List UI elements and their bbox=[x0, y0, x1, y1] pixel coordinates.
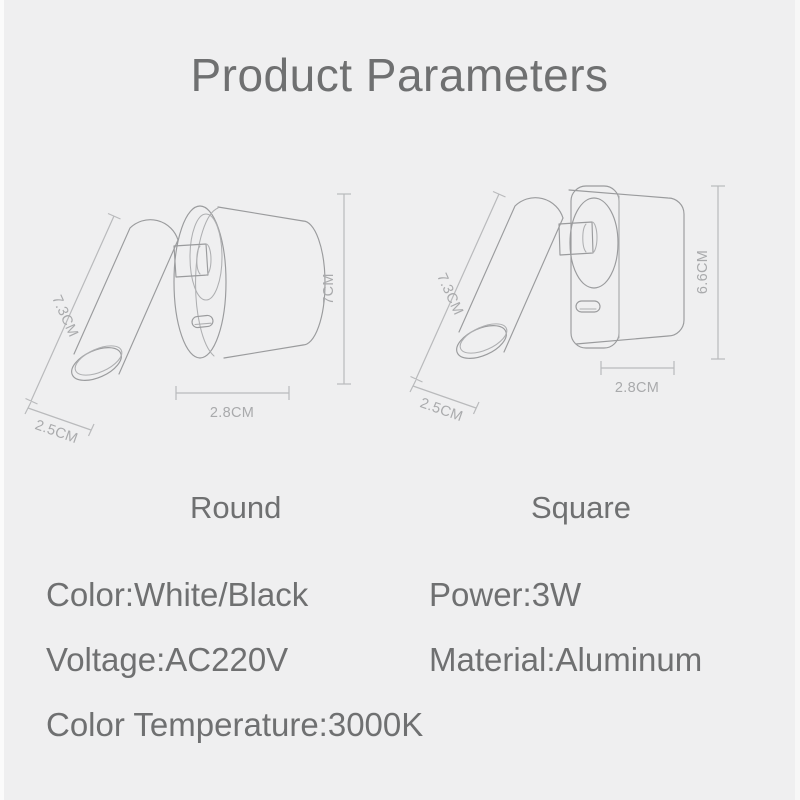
dimension-base-height: 6.6CM bbox=[695, 186, 725, 359]
spec-color: Color:White/Black bbox=[46, 578, 308, 611]
page-title: Product Parameters bbox=[4, 52, 795, 98]
dimension-base-height-label: 6.6CM bbox=[695, 250, 711, 294]
square-lamp-diagram: 7.3CM 2.5CM 6.6CM bbox=[396, 168, 776, 468]
spec-voltage: Voltage:AC220V bbox=[46, 643, 288, 676]
square-lamp-joint bbox=[559, 222, 597, 255]
round-lamp-head bbox=[67, 220, 178, 387]
square-lamp-switch bbox=[576, 301, 600, 312]
dimension-base-depth-label: 2.8CM bbox=[615, 380, 659, 396]
spec-color-temperature: Color Temperature:3000K bbox=[46, 708, 423, 741]
dimension-head-diameter-label: 2.5CM bbox=[418, 395, 465, 425]
dimension-base-depth: 2.8CM bbox=[601, 361, 674, 396]
spec-power: Power:3W bbox=[429, 578, 581, 611]
square-lamp-head bbox=[452, 198, 563, 365]
specification-list: Color:White/Black Power:3W Voltage:AC220… bbox=[4, 574, 795, 774]
dimension-head-diameter: 2.5CM bbox=[25, 402, 94, 447]
variant-label-square: Square bbox=[531, 490, 631, 526]
round-base-cylinder bbox=[174, 206, 325, 358]
round-lamp-diagram: 7.3CM 2.5CM 7CM bbox=[18, 168, 398, 468]
dimension-head-diameter: 2.5CM bbox=[410, 380, 479, 425]
round-lamp-switch bbox=[191, 315, 213, 328]
dimension-head-diameter-label: 2.5CM bbox=[33, 417, 80, 447]
product-diagrams: 7.3CM 2.5CM 7CM bbox=[4, 168, 795, 478]
dimension-base-height-label: 7CM bbox=[321, 273, 337, 305]
round-lamp-joint bbox=[174, 244, 211, 277]
spec-material: Material:Aluminum bbox=[429, 643, 702, 676]
dimension-base-depth: 2.8CM bbox=[176, 386, 289, 421]
variant-label-round: Round bbox=[190, 490, 281, 526]
product-parameters-page: Product Parameters bbox=[0, 0, 800, 800]
square-base-box bbox=[569, 186, 684, 348]
dimension-base-depth-label: 2.8CM bbox=[210, 405, 254, 421]
dimension-base-height: 7CM bbox=[321, 194, 351, 384]
